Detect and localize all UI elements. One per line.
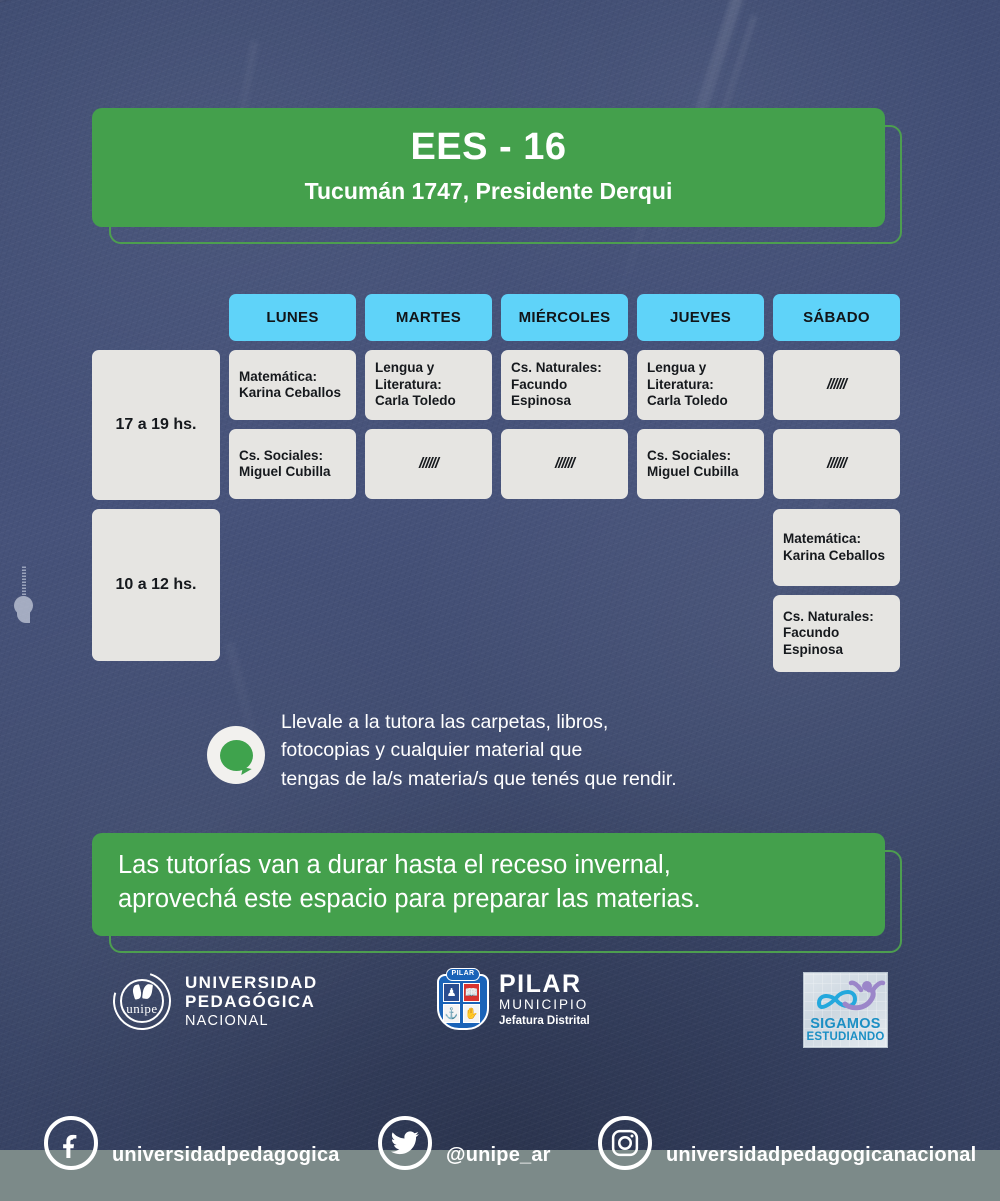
social-link-twitter[interactable]: @unipe_ar	[378, 1116, 551, 1170]
slot-subject: Lengua y	[647, 360, 754, 376]
unipe-line-2: PEDAGÓGICA	[185, 992, 318, 1011]
slot-subject: Cs. Sociales:	[239, 448, 346, 464]
schedule-slot-empty: //////	[773, 350, 900, 420]
sigamos-line-2: ESTUDIANDO	[806, 1032, 884, 1044]
slot-teacher: Carla Toledo	[647, 393, 754, 409]
schedule-slot-empty: //////	[365, 429, 492, 499]
slot-subject: Matemática:	[783, 531, 890, 547]
schedule-slot: Cs. Sociales: Miguel Cubilla	[229, 429, 356, 499]
crest-quadrant-hand: ✋	[463, 1004, 480, 1023]
schedule-slot-blank	[365, 509, 492, 579]
logo-unipe: unipe UNIVERSIDAD PEDAGÓGICA NACIONAL	[113, 972, 318, 1030]
schedule-column-miercoles	[501, 509, 628, 672]
sigamos-infinity-figure-icon	[808, 978, 883, 1017]
crest-quadrant-tower: ♟	[443, 983, 460, 1002]
pilar-wordmark: PILAR MUNICIPIO Jefatura Distrital	[499, 971, 590, 1027]
logo-pilar-municipio: PILAR ♟ 📖 ⚓ ✋ PILAR MUNICIPIO Jefatura D…	[437, 968, 590, 1030]
day-header-lunes: LUNES	[229, 294, 356, 341]
note-line-1: Llevale a la tutora las carpetas, libros…	[281, 708, 677, 736]
unipe-line-3: NACIONAL	[185, 1013, 318, 1029]
schedule-slot-empty: //////	[773, 429, 900, 499]
poster: EES - 16 Tucumán 1747, Presidente Derqui…	[0, 0, 1000, 1201]
schedule-slot-empty: //////	[501, 429, 628, 499]
slot-teacher: Facundo	[783, 625, 890, 641]
slot-subject-cont: Literatura:	[375, 377, 482, 393]
slot-teacher: Karina Ceballos	[783, 548, 890, 564]
schedule-day-headers: LUNES MARTES MIÉRCOLES JUEVES SÁBADO	[92, 294, 904, 341]
schedule-column-lunes: Matemática: Karina Ceballos Cs. Sociales…	[229, 350, 356, 500]
twitter-icon[interactable]	[378, 1116, 432, 1170]
pilar-line-2: MUNICIPIO	[499, 998, 590, 1012]
banner-line-1: Las tutorías van a durar hasta el receso…	[118, 849, 859, 883]
facebook-handle: universidadpedagogica	[112, 1120, 340, 1167]
crest-quadrant-anchor: ⚓	[443, 1004, 460, 1023]
sigamos-wordmark: SIGAMOS ESTUDIANDO	[806, 1017, 884, 1043]
empty-hatch-marker: //////	[555, 455, 574, 473]
banner-line-2: aprovechá este espacio para preparar las…	[118, 883, 859, 917]
banner-panel: Las tutorías van a durar hasta el receso…	[92, 833, 885, 936]
social-links: universidadpedagogica @unipe_ar universi…	[0, 1112, 1000, 1201]
slot-subject: Lengua y	[375, 360, 482, 376]
schedule-slot: Matemática: Karina Ceballos	[229, 350, 356, 420]
slot-teacher: Miguel Cubilla	[647, 464, 754, 480]
schedule-slot: Cs. Naturales: Facundo Espinosa	[501, 350, 628, 420]
schedule-column-sabado: ////// //////	[773, 350, 900, 500]
slot-teacher: Miguel Cubilla	[239, 464, 346, 480]
note-section: Llevale a la tutora las carpetas, libros…	[207, 708, 677, 793]
schedule-slot: Cs. Sociales: Miguel Cubilla	[637, 429, 764, 499]
pilar-line-3: Jefatura Distrital	[499, 1015, 590, 1027]
schedule-column-martes	[365, 509, 492, 672]
twitter-handle: @unipe_ar	[446, 1120, 551, 1167]
schedule-slot-blank	[229, 509, 356, 579]
slot-teacher: Carla Toledo	[375, 393, 482, 409]
slot-subject: Matemática:	[239, 369, 346, 385]
instagram-icon[interactable]	[598, 1116, 652, 1170]
logo-strip: unipe UNIVERSIDAD PEDAGÓGICA NACIONAL PI…	[0, 960, 1000, 1070]
schedule-column-jueves: Lengua y Literatura: Carla Toledo Cs. So…	[637, 350, 764, 500]
schedule-row: 17 a 19 hs. Matemática: Karina Ceballos …	[92, 350, 904, 500]
facebook-icon[interactable]	[44, 1116, 98, 1170]
logo-sigamos-estudiando: SIGAMOS ESTUDIANDO	[803, 972, 888, 1048]
unipe-emblem-icon: unipe	[113, 972, 171, 1030]
time-label-10-12: 10 a 12 hs.	[92, 509, 220, 661]
note-text: Llevale a la tutora las carpetas, libros…	[281, 708, 677, 793]
schedule-slot: Matemática: Karina Ceballos	[773, 509, 900, 586]
schedule-column-martes: Lengua y Literatura: Carla Toledo //////	[365, 350, 492, 500]
time-label-17-19: 17 a 19 hs.	[92, 350, 220, 500]
social-link-facebook[interactable]: universidadpedagogica	[44, 1116, 340, 1170]
slot-teacher: Facundo	[511, 377, 618, 393]
schedule-column-jueves	[637, 509, 764, 672]
slot-teacher: Karina Ceballos	[239, 385, 346, 401]
day-header-sabado: SÁBADO	[773, 294, 900, 341]
unipe-line-1: UNIVERSIDAD	[185, 973, 318, 992]
sigamos-line-1: SIGAMOS	[806, 1017, 884, 1032]
pilar-line-1: PILAR	[499, 971, 590, 997]
empty-hatch-marker: //////	[827, 376, 846, 394]
schedule-slot: Lengua y Literatura: Carla Toledo	[637, 350, 764, 420]
slot-subject: Cs. Naturales:	[511, 360, 618, 376]
schedule-slot: Lengua y Literatura: Carla Toledo	[365, 350, 492, 420]
day-header-martes: MARTES	[365, 294, 492, 341]
social-link-instagram[interactable]: universidadpedagogicanacional	[598, 1116, 976, 1170]
empty-hatch-marker: //////	[827, 455, 846, 473]
page-title: EES - 16	[112, 126, 865, 170]
empty-hatch-marker: //////	[419, 455, 438, 473]
header-panel: EES - 16 Tucumán 1747, Presidente Derqui	[92, 108, 885, 227]
speech-bubble-icon	[207, 726, 265, 784]
crest-banner-text: PILAR	[446, 968, 480, 981]
header-block: EES - 16 Tucumán 1747, Presidente Derqui	[92, 108, 885, 227]
slot-subject: Cs. Sociales:	[647, 448, 754, 464]
day-header-jueves: JUEVES	[637, 294, 764, 341]
banner-text: Las tutorías van a durar hasta el receso…	[118, 849, 859, 916]
header-address: Tucumán 1747, Presidente Derqui	[112, 178, 865, 206]
schedule-slot: Cs. Naturales: Facundo Espinosa	[773, 595, 900, 672]
banner-block: Las tutorías van a durar hasta el receso…	[92, 833, 885, 936]
edge-watermark-icon	[12, 566, 36, 624]
schedule-slot-blank	[637, 509, 764, 579]
unipe-mark-text: unipe	[113, 1001, 171, 1017]
note-line-3: tengas de la/s materia/s que tenés que r…	[281, 765, 677, 793]
unipe-wordmark: UNIVERSIDAD PEDAGÓGICA NACIONAL	[185, 973, 318, 1029]
crest-quadrant-book: 📖	[463, 983, 480, 1002]
schedule-row: 10 a 12 hs. Matemática: Karina Ceballos …	[92, 509, 904, 672]
schedule-column-miercoles: Cs. Naturales: Facundo Espinosa //////	[501, 350, 628, 500]
schedule-column-lunes	[229, 509, 356, 672]
slot-teacher-cont: Espinosa	[783, 642, 890, 658]
day-header-miercoles: MIÉRCOLES	[501, 294, 628, 341]
schedule-slot-blank	[501, 509, 628, 579]
note-line-2: fotocopias y cualquier material que	[281, 736, 677, 764]
schedule-table: LUNES MARTES MIÉRCOLES JUEVES SÁBADO 17 …	[92, 294, 904, 672]
schedule-column-sabado: Matemática: Karina Ceballos Cs. Naturale…	[773, 509, 900, 672]
pilar-crest-icon: PILAR ♟ 📖 ⚓ ✋	[437, 968, 489, 1030]
slot-teacher-cont: Espinosa	[511, 393, 618, 409]
instagram-handle: universidadpedagogicanacional	[666, 1120, 976, 1167]
slot-subject-cont: Literatura:	[647, 377, 754, 393]
slot-subject: Cs. Naturales:	[783, 609, 890, 625]
